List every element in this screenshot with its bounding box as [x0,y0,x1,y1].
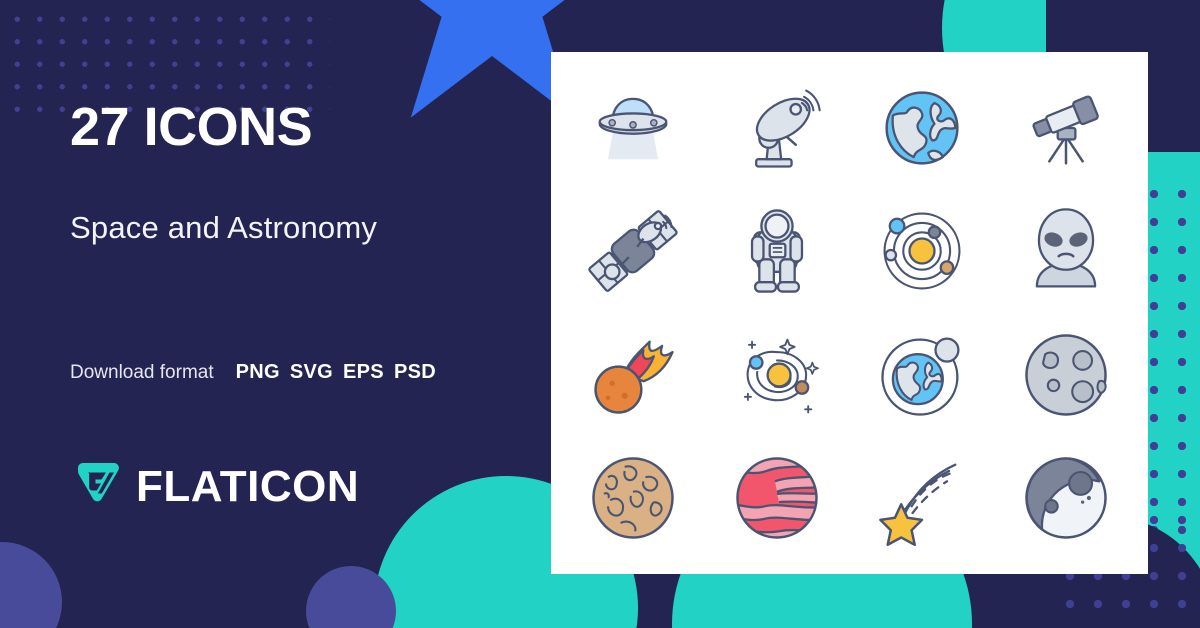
icon-cell-solar-system[interactable] [850,190,994,314]
icon-cell-satellite[interactable] [561,190,705,314]
icon-cell-jupiter-planet[interactable] [705,437,849,561]
astronaut-icon [725,199,829,303]
meteor-icon [581,323,685,427]
flaticon-mark-icon [70,458,122,515]
earth-orbit-icon [870,323,974,427]
moon-icon [1014,323,1118,427]
icon-cell-astronaut[interactable] [705,190,849,314]
format-svg[interactable]: SVG [290,361,333,384]
jupiter-planet-icon [725,446,829,550]
icon-cell-alien[interactable] [994,190,1138,314]
page-title: 27 ICONS [70,100,312,154]
shooting-star-icon [870,446,974,550]
icon-cell-ufo[interactable] [561,66,705,190]
format-psd[interactable]: PSD [394,361,436,384]
download-format-label: Download format [70,362,214,384]
brand-logo[interactable]: FLATICON [70,458,359,515]
icon-cell-telescope[interactable] [994,66,1138,190]
icon-cell-moon-phase[interactable] [994,437,1138,561]
banner-canvas: 27 ICONS Space and Astronomy Download fo… [0,0,1200,628]
icon-cell-earth-orbit[interactable] [850,313,994,437]
mercury-planet-icon [581,446,685,550]
alien-icon [1014,199,1118,303]
solar-system-icon [870,199,974,303]
icon-cell-moon[interactable] [994,313,1138,437]
satellite-dish-icon [725,76,829,180]
icon-cell-meteor[interactable] [561,313,705,437]
icon-cell-mercury-planet[interactable] [561,437,705,561]
ufo-icon [581,76,685,180]
icon-preview-card [551,52,1148,574]
satellite-icon [581,199,685,303]
icon-cell-shooting-star[interactable] [850,437,994,561]
icon-cell-galaxy[interactable] [705,313,849,437]
icon-cell-earth-globe[interactable] [850,66,994,190]
telescope-icon [1014,76,1118,180]
galaxy-icon [725,323,829,427]
icon-cell-satellite-dish[interactable] [705,66,849,190]
download-format-row: Download format PNG SVG EPS PSD [70,361,436,384]
icon-grid [551,52,1148,574]
moon-phase-icon [1014,446,1118,550]
format-png[interactable]: PNG [236,361,280,384]
brand-name: FLATICON [136,462,359,512]
earth-globe-icon [870,76,974,180]
format-eps[interactable]: EPS [343,361,384,384]
circle-decoration-left-purple [0,542,62,628]
page-subtitle: Space and Astronomy [70,210,377,246]
